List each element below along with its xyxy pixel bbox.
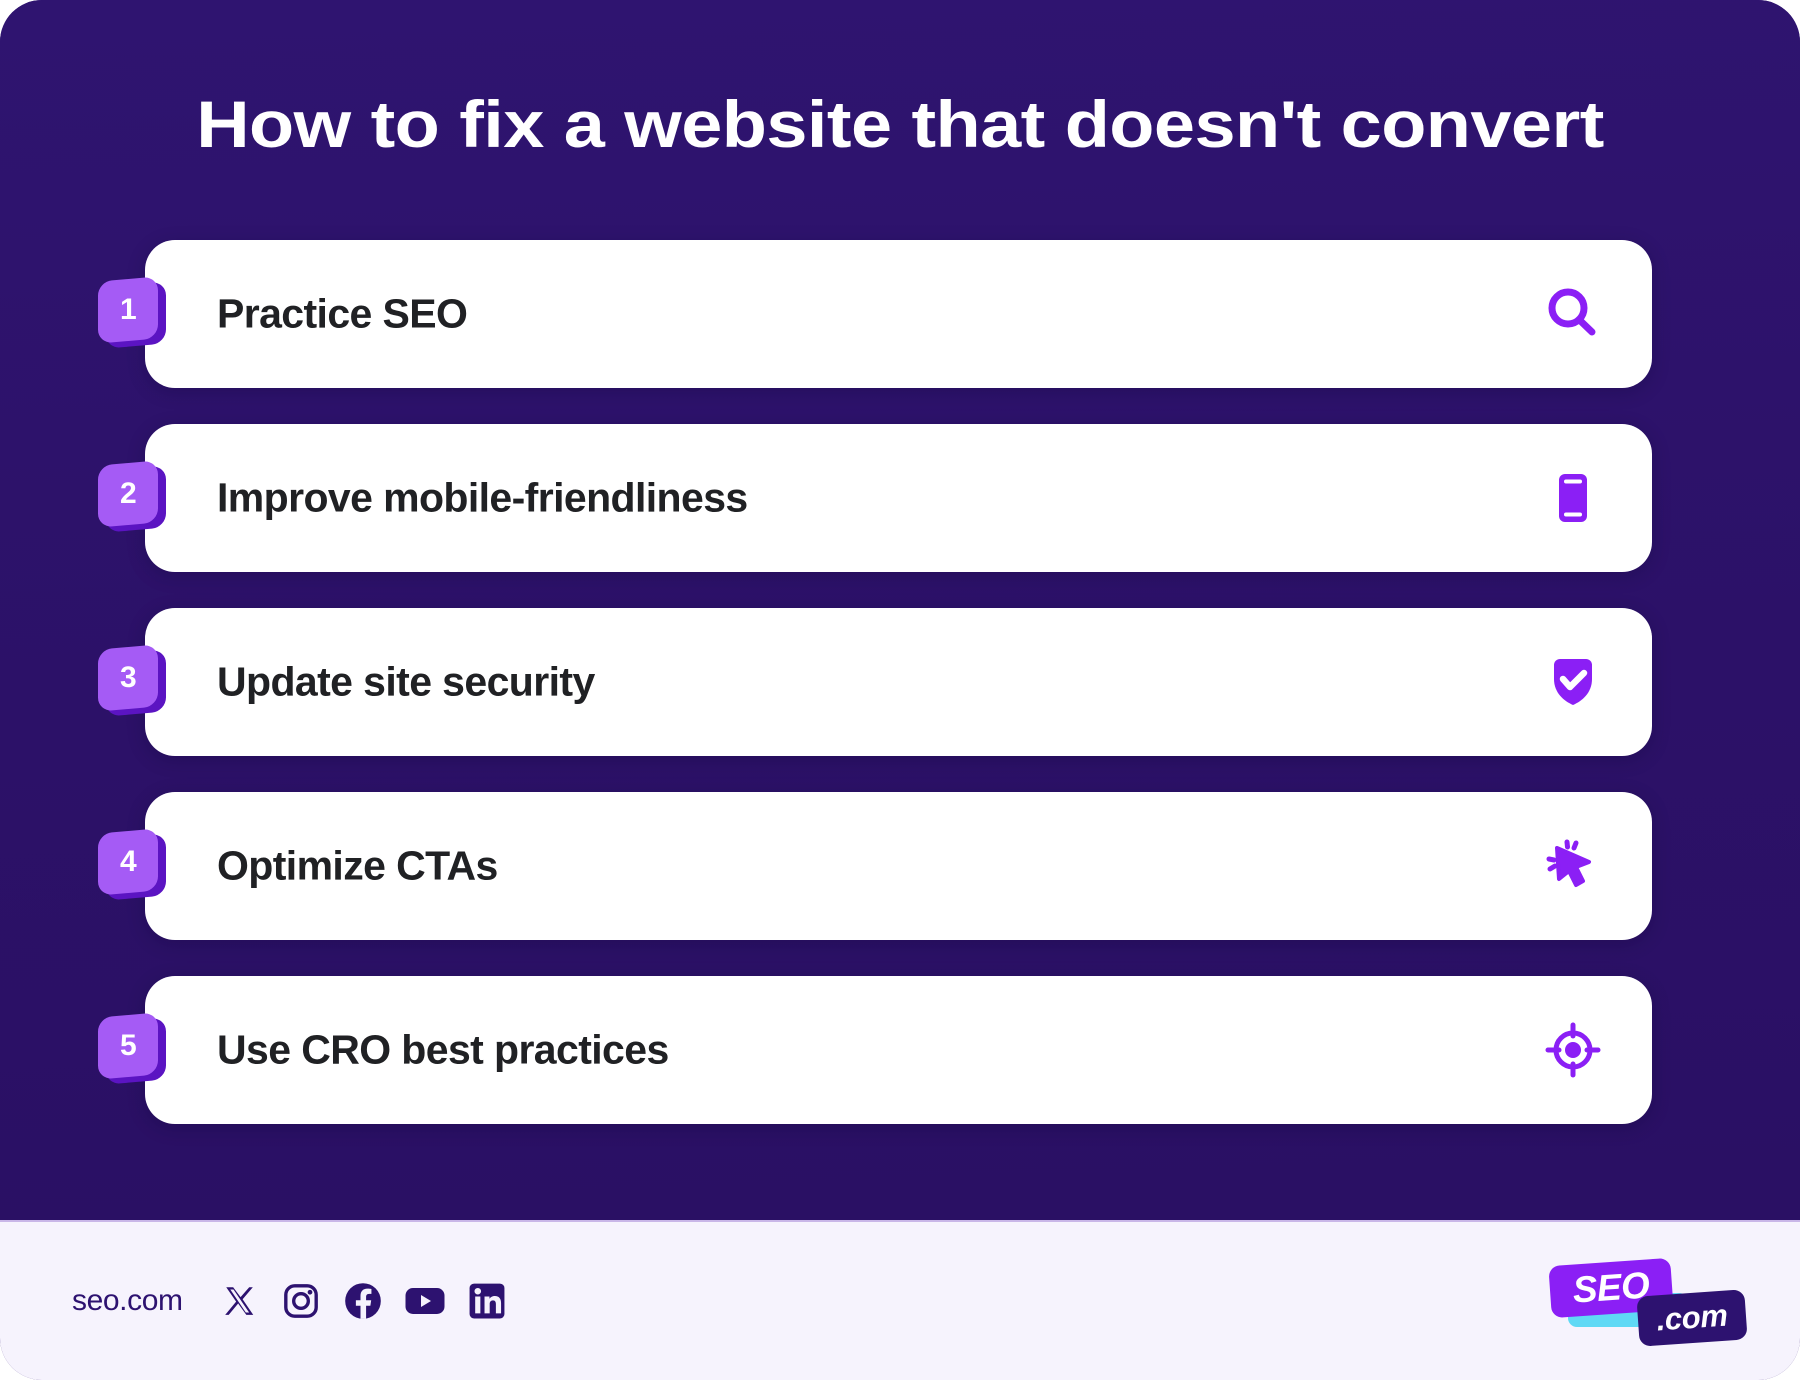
step-card[interactable]: Practice SEO	[145, 240, 1652, 388]
badge-face: 4	[98, 828, 158, 895]
step-number-badge: 4	[98, 831, 170, 903]
logo-com-badge: .com	[1636, 1289, 1747, 1346]
list-item[interactable]: Improve mobile-friendliness 2	[0, 424, 1800, 572]
instagram-icon[interactable]	[281, 1281, 321, 1321]
badge-face: 2	[98, 460, 158, 527]
list-item[interactable]: Practice SEO 1	[0, 240, 1800, 388]
shield-check-icon	[1540, 649, 1606, 715]
step-card[interactable]: Optimize CTAs	[145, 792, 1652, 940]
list-item[interactable]: Update site security 3	[0, 608, 1800, 756]
footer: seo.com	[0, 1220, 1800, 1380]
badge-face: 1	[98, 276, 158, 343]
list-item[interactable]: Use CRO best practices	[0, 976, 1800, 1124]
step-number-badge: 3	[98, 647, 170, 719]
list-item[interactable]: Optimize CTAs 4	[0, 792, 1800, 940]
mobile-phone-icon	[1540, 465, 1606, 531]
seo-dot-com-logo[interactable]: SEO .com	[1546, 1255, 1746, 1347]
badge-face: 3	[98, 644, 158, 711]
step-card[interactable]: Improve mobile-friendliness	[145, 424, 1652, 572]
click-cursor-icon	[1540, 833, 1606, 899]
target-icon	[1540, 1017, 1606, 1083]
step-label: Practice SEO	[217, 291, 467, 338]
logo-secondary-text: .com	[1655, 1298, 1728, 1339]
step-label: Update site security	[217, 659, 595, 706]
youtube-icon[interactable]	[405, 1281, 445, 1321]
footer-brand-text: seo.com	[72, 1284, 183, 1318]
step-number: 3	[120, 663, 137, 693]
step-number-badge: 2	[98, 463, 170, 535]
step-number: 4	[120, 847, 137, 877]
step-label: Optimize CTAs	[217, 843, 498, 890]
step-label: Improve mobile-friendliness	[217, 475, 748, 522]
step-number: 2	[120, 479, 137, 509]
hero-section: How to fix a website that doesn't conver…	[0, 0, 1800, 1222]
step-card[interactable]: Update site security	[145, 608, 1652, 756]
facebook-icon[interactable]	[343, 1281, 383, 1321]
step-card[interactable]: Use CRO best practices	[145, 976, 1652, 1124]
page-title: How to fix a website that doesn't conver…	[0, 86, 1800, 162]
search-icon	[1540, 281, 1606, 347]
x-twitter-icon[interactable]	[219, 1281, 259, 1321]
step-number-badge: 5	[98, 1015, 170, 1087]
steps-list: Practice SEO 1	[0, 240, 1800, 1160]
badge-face: 5	[98, 1012, 158, 1079]
step-label: Use CRO best practices	[217, 1027, 669, 1074]
infographic-frame: How to fix a website that doesn't conver…	[0, 0, 1800, 1380]
footer-links: seo.com	[72, 1281, 507, 1321]
linkedin-icon[interactable]	[467, 1281, 507, 1321]
step-number: 5	[120, 1031, 137, 1061]
step-number: 1	[120, 295, 137, 325]
step-number-badge: 1	[98, 279, 170, 351]
